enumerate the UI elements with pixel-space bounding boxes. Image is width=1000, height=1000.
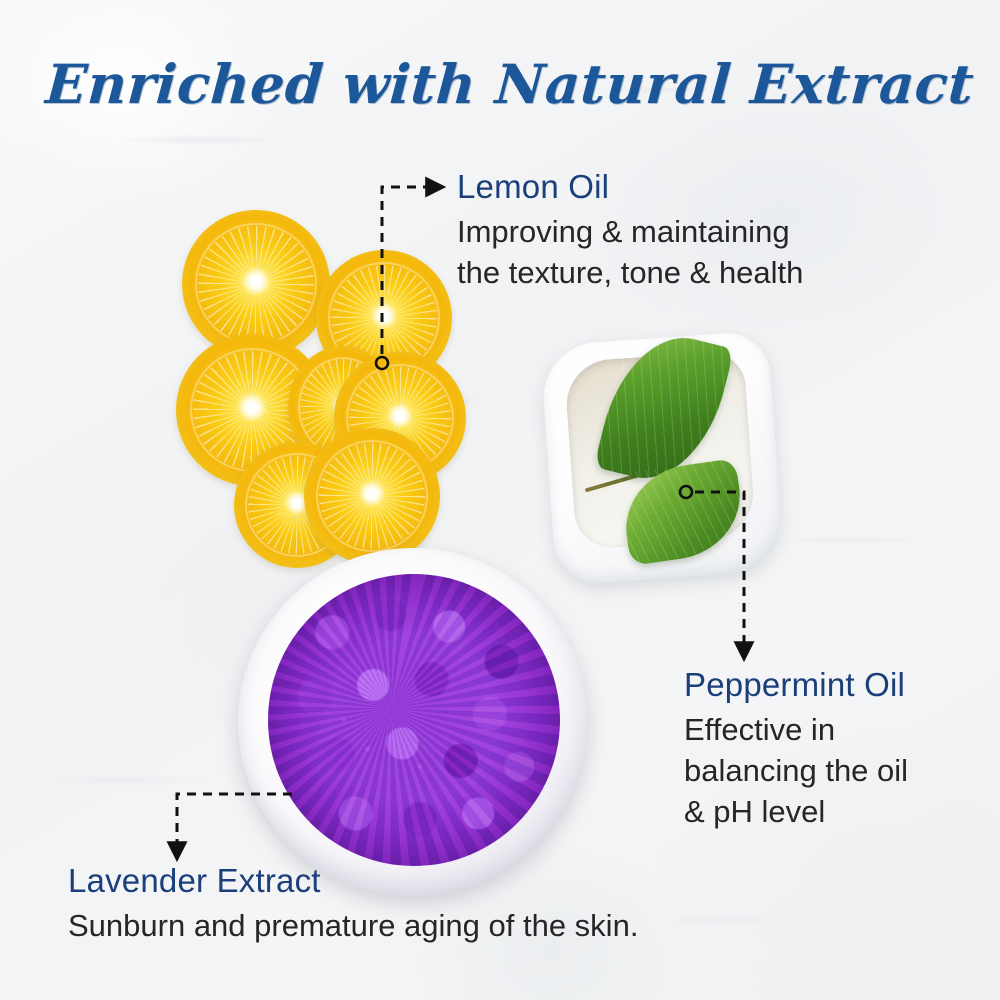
lemon-slice (304, 428, 440, 564)
infographic-canvas: Enriched with Natural Extract (0, 0, 1000, 1000)
callout-lavender-body: Sunburn and premature aging of the skin. (68, 906, 768, 947)
callout-lavender-heading: Lavender Extract (68, 862, 768, 900)
mint-leaf-lower (618, 458, 748, 566)
callout-lavender: Lavender Extract Sunburn and premature a… (68, 862, 768, 947)
callout-peppermint: Peppermint Oil Effective in balancing th… (684, 666, 984, 833)
callout-lemon: Lemon Oil Improving & maintaining the te… (457, 168, 927, 294)
callout-lemon-body-line: Improving & maintaining (457, 214, 790, 249)
page-title: Enriched with Natural Extract (44, 52, 908, 116)
callout-peppermint-body-line: balancing the oil (684, 753, 908, 788)
lemon-slices-photo (176, 206, 466, 566)
callout-peppermint-heading: Peppermint Oil (684, 666, 984, 704)
callout-peppermint-body-line: & pH level (684, 794, 825, 829)
callout-lemon-body: Improving & maintaining the texture, ton… (457, 212, 927, 294)
callout-peppermint-body-line: Effective in (684, 712, 835, 747)
callout-lemon-heading: Lemon Oil (457, 168, 927, 206)
lavender-bowl-photo (238, 548, 588, 896)
lavender-flowers (268, 574, 560, 866)
callout-peppermint-body: Effective in balancing the oil & pH leve… (684, 710, 984, 833)
callout-lemon-body-line: the texture, tone & health (457, 255, 803, 290)
